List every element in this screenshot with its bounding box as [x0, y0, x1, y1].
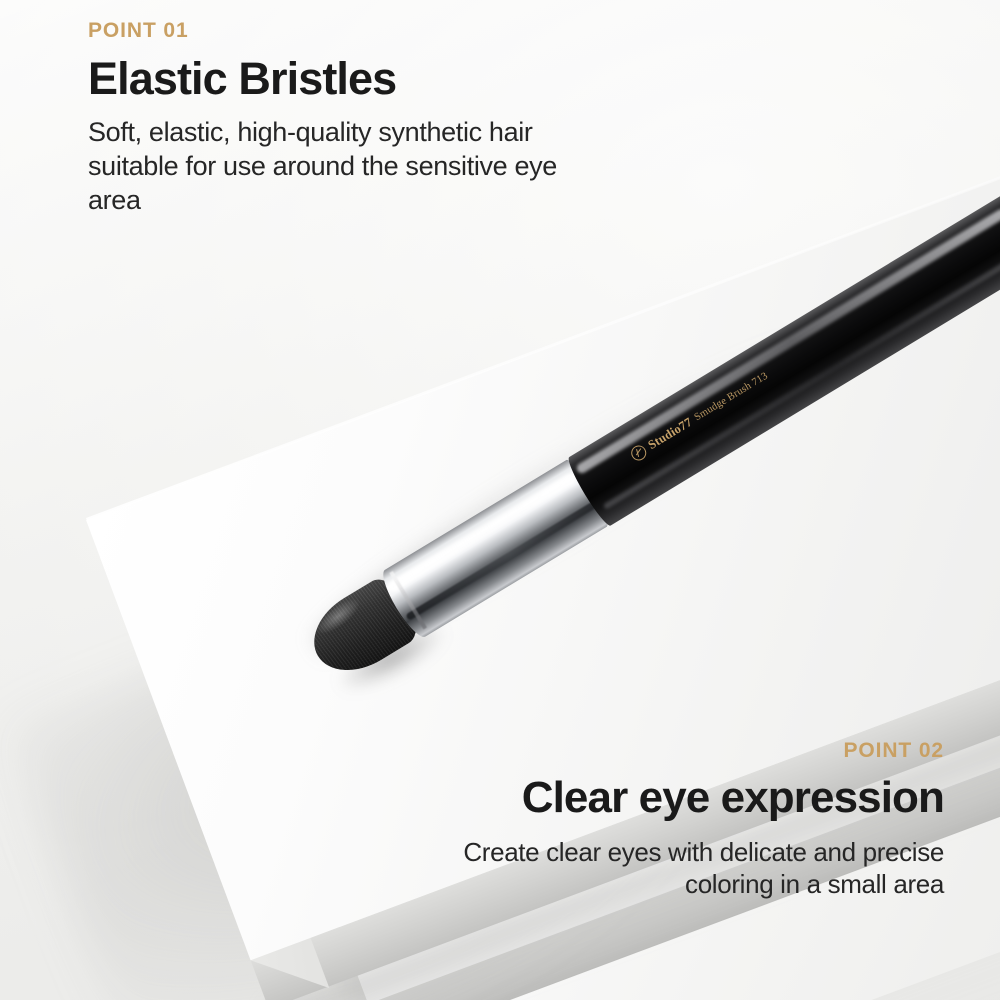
point-02-body: Create clear eyes with delicate and prec… [404, 836, 944, 902]
product-feature-slide: Studio77 Smudge Brush 713 POINT 01 Elast… [0, 0, 1000, 1000]
feature-point-02: POINT 02 Clear eye expression Create cle… [404, 740, 944, 901]
point-02-eyebrow: POINT 02 [404, 740, 944, 761]
point-01-body: Soft, elastic, high-quality synthetic ha… [88, 115, 558, 217]
point-01-eyebrow: POINT 01 [88, 20, 558, 41]
point-02-headline: Clear eye expression [404, 775, 944, 822]
point-01-headline: Elastic Bristles [88, 55, 558, 103]
feature-point-01: POINT 01 Elastic Bristles Soft, elastic,… [88, 20, 558, 217]
